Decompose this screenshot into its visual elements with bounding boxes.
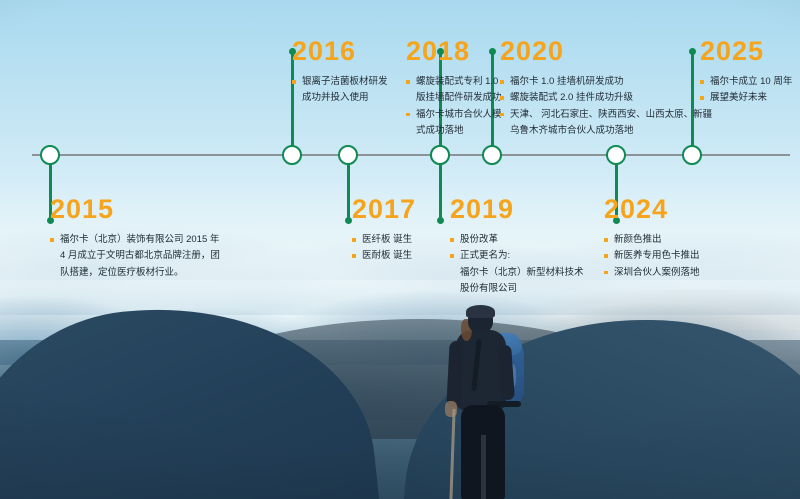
bullet-item-continuation: 4 月成立于文明古都北京品牌注册，团 — [50, 248, 220, 263]
bullet-item-continuation: 福尔卡（北京）新型材料技术 — [450, 265, 584, 280]
bullet-item: 福尔卡（北京）装饰有限公司 2015 年 — [50, 232, 220, 247]
timeline-node-2025[interactable] — [682, 145, 702, 165]
bullet-item: 医耐板 诞生 — [352, 248, 416, 263]
bullet-item: 天津、 河北石家庄、陕西西安、山西太原、新疆 — [500, 107, 712, 122]
timeline-node-2017[interactable] — [338, 145, 358, 165]
bullet-item-continuation: 队搭建，定位医疗板材行业。 — [50, 265, 220, 280]
timeline-stem-2017 — [347, 164, 350, 221]
timeline-stem-2019 — [439, 164, 442, 221]
entry-year-2025: 2025 — [700, 38, 792, 65]
entry-bullet-list-2018: 螺旋装配式专利 1.0版挂墙配件研发成功福尔卡城市合伙人模式成功落地 — [406, 74, 502, 139]
bullet-item-continuation: 版挂墙配件研发成功 — [406, 90, 502, 105]
entry-year-2016: 2016 — [292, 38, 388, 65]
bullet-item-continuation: 乌鲁木齐城市合伙人成功落地 — [500, 123, 712, 138]
entry-bullet-list-2016: 银离子洁菌板材研发成功并投入使用 — [292, 74, 388, 106]
entry-bullet-list-2017: 医纤板 诞生医耐板 诞生 — [352, 232, 416, 264]
timeline-node-2015[interactable] — [40, 145, 60, 165]
bullet-item-continuation: 成功并投入使用 — [292, 90, 388, 105]
bullet-item: 银离子洁菌板材研发 — [292, 74, 388, 89]
timeline-entry-2024[interactable]: 2024新颜色推出新医养专用色卡推出深圳合伙人案例落地 — [604, 196, 700, 281]
bullet-item: 正式更名为: — [450, 248, 584, 263]
entry-year-2024: 2024 — [604, 196, 700, 223]
timeline-node-2024[interactable] — [606, 145, 626, 165]
timeline-node-2019[interactable] — [430, 145, 450, 165]
timeline-entry-2025[interactable]: 2025福尔卡成立 10 周年展望美好未来 — [700, 38, 792, 107]
entry-year-2018: 2018 — [406, 38, 502, 65]
timeline-entry-2015[interactable]: 2015福尔卡（北京）装饰有限公司 2015 年4 月成立于文明古都北京品牌注册… — [50, 196, 220, 281]
bullet-item: 福尔卡 1.0 挂墙机研发成功 — [500, 74, 712, 89]
bullet-item-continuation: 式成功落地 — [406, 123, 502, 138]
entry-year-2019: 2019 — [450, 196, 584, 223]
entry-year-2020: 2020 — [500, 38, 712, 65]
entry-bullet-list-2024: 新颜色推出新医养专用色卡推出深圳合伙人案例落地 — [604, 232, 700, 280]
bullet-item: 深圳合伙人案例落地 — [604, 265, 700, 280]
timeline-axis — [32, 154, 790, 156]
bullet-item: 展望美好未来 — [700, 90, 792, 105]
entry-bullet-list-2020: 福尔卡 1.0 挂墙机研发成功螺旋装配式 2.0 挂件成功升级天津、 河北石家庄… — [500, 74, 712, 139]
timeline-entry-2019[interactable]: 2019股份改革正式更名为:福尔卡（北京）新型材料技术股份有限公司 — [450, 196, 584, 298]
timeline-entry-2016[interactable]: 2016银离子洁菌板材研发成功并投入使用 — [292, 38, 388, 107]
bullet-item: 螺旋装配式 2.0 挂件成功升级 — [500, 90, 712, 105]
entry-year-2017: 2017 — [352, 196, 416, 223]
bullet-item: 螺旋装配式专利 1.0 — [406, 74, 502, 89]
bullet-item: 医纤板 诞生 — [352, 232, 416, 247]
bullet-item-continuation: 股份有限公司 — [450, 281, 584, 296]
hiker-figure — [430, 305, 550, 499]
hiker-cap — [466, 305, 495, 318]
timeline-entry-2020[interactable]: 2020福尔卡 1.0 挂墙机研发成功螺旋装配式 2.0 挂件成功升级天津、 河… — [500, 38, 712, 140]
bullet-item: 福尔卡成立 10 周年 — [700, 74, 792, 89]
entry-bullet-list-2025: 福尔卡成立 10 周年展望美好未来 — [700, 74, 792, 106]
bullet-item: 股份改革 — [450, 232, 584, 247]
timeline-infographic: 2015福尔卡（北京）装饰有限公司 2015 年4 月成立于文明古都北京品牌注册… — [0, 0, 800, 499]
bullet-item: 福尔卡城市合伙人模 — [406, 107, 502, 122]
hiker-leg-gap — [481, 435, 486, 499]
entry-bullet-list-2015: 福尔卡（北京）装饰有限公司 2015 年4 月成立于文明古都北京品牌注册，团队搭… — [50, 232, 220, 280]
bullet-item: 新医养专用色卡推出 — [604, 248, 700, 263]
timeline-entry-2018[interactable]: 2018螺旋装配式专利 1.0版挂墙配件研发成功福尔卡城市合伙人模式成功落地 — [406, 38, 502, 140]
bullet-item: 新颜色推出 — [604, 232, 700, 247]
timeline-entry-2017[interactable]: 2017医纤板 诞生医耐板 诞生 — [352, 196, 416, 265]
timeline-node-2020[interactable] — [482, 145, 502, 165]
entry-bullet-list-2019: 股份改革正式更名为:福尔卡（北京）新型材料技术股份有限公司 — [450, 232, 584, 297]
entry-year-2015: 2015 — [50, 196, 220, 223]
trekking-pole — [449, 409, 455, 499]
timeline-node-2016[interactable] — [282, 145, 302, 165]
